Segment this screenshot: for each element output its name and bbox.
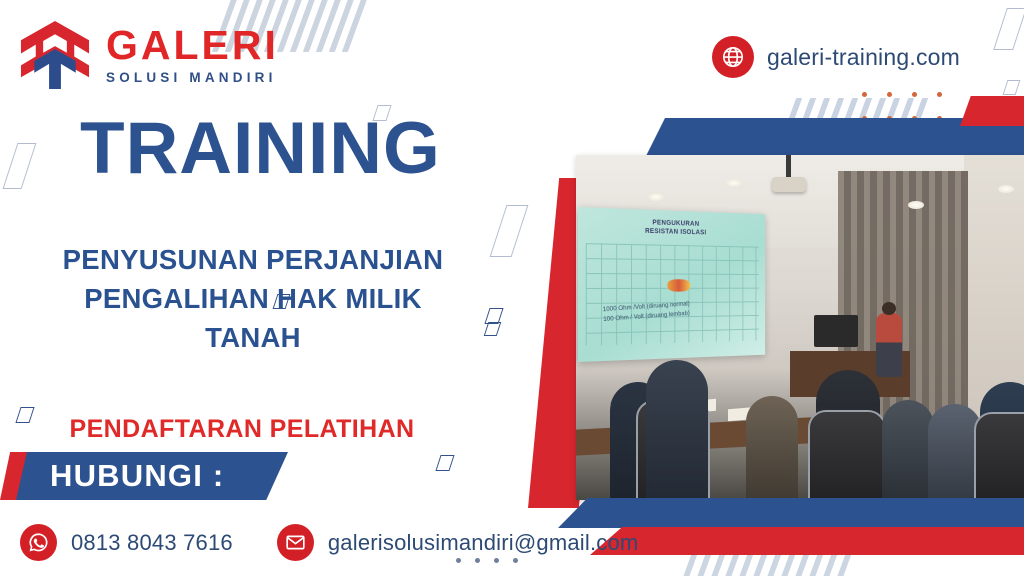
parallelogram-decoration [993, 8, 1024, 50]
photo-downlight [998, 185, 1014, 193]
photo-monitor [814, 315, 858, 347]
website-block[interactable]: galeri-training.com [712, 36, 960, 78]
photo-projector-arm [786, 155, 791, 179]
photo-attendee [746, 396, 798, 500]
registration-heading: PENDAFTARAN PELATIHAN [22, 415, 462, 444]
email-address[interactable]: galerisolusimandiri@gmail.com [328, 530, 639, 556]
phone-number[interactable]: 0813 8043 7616 [71, 530, 233, 556]
training-photo: PENGUKURAN RESISTAN ISOLASI 1000 Ohm /Vo… [576, 155, 1024, 500]
website-url[interactable]: galeri-training.com [767, 44, 960, 71]
brand-logo-block: GALERI SOLUSI MANDIRI [18, 18, 279, 92]
course-subtitle-line-2: PENGALIHAN HAK MILIK [22, 279, 484, 318]
photo-presenter [876, 313, 902, 377]
photo-attendee [882, 400, 934, 500]
photo-room-background: PENGUKURAN RESISTAN ISOLASI 1000 Ohm /Vo… [576, 155, 1024, 500]
parallelogram-decoration [484, 322, 502, 336]
photo-slide-graphic [667, 279, 690, 291]
gs-monogram-logo-icon [18, 18, 92, 92]
course-subtitle-line-1: PENYUSUNAN PERJANJIAN [22, 240, 484, 279]
photo-attendee [646, 360, 708, 500]
parallelogram-decoration [490, 205, 529, 257]
photo-projector [772, 177, 806, 192]
photo-downlight [648, 193, 664, 201]
parallelogram-decoration [484, 308, 503, 324]
contact-row: 0813 8043 7616 galerisolusimandiri@gmail… [20, 524, 638, 561]
brand-tagline: SOLUSI MANDIRI [106, 71, 279, 85]
globe-icon [712, 36, 754, 78]
photo-downlight [908, 201, 924, 209]
photo-chair [808, 410, 886, 500]
parallelogram-decoration [3, 143, 37, 189]
brand-name: GALERI [106, 25, 279, 66]
parallelogram-decoration [435, 455, 454, 471]
dot-row-decoration [456, 558, 518, 563]
photo-slide-table-grid [586, 243, 759, 346]
flyer-canvas: PENGUKURAN RESISTAN ISOLASI 1000 Ohm /Vo… [0, 0, 1024, 576]
photo-slide-title: PENGUKURAN RESISTAN ISOLASI [578, 216, 765, 240]
red-accent-block-top-right [960, 96, 1024, 126]
photo-downlight [726, 179, 742, 187]
parallelogram-decoration [1003, 80, 1021, 95]
course-subtitle: PENYUSUNAN PERJANJIAN PENGALIHAN HAK MIL… [22, 240, 484, 357]
red-accent-bar-bottom [590, 527, 1024, 555]
email-icon[interactable] [277, 524, 314, 561]
hubungi-banner: HUBUNGI : [16, 452, 288, 500]
hubungi-label: HUBUNGI : [50, 458, 224, 494]
whatsapp-icon[interactable] [20, 524, 57, 561]
page-title: TRAINING [80, 112, 441, 185]
brand-wordmark: GALERI SOLUSI MANDIRI [106, 25, 279, 85]
photo-projection-screen: PENGUKURAN RESISTAN ISOLASI 1000 Ohm /Vo… [578, 207, 765, 362]
photo-chair [974, 412, 1024, 500]
course-subtitle-line-3: TANAH [22, 318, 484, 357]
